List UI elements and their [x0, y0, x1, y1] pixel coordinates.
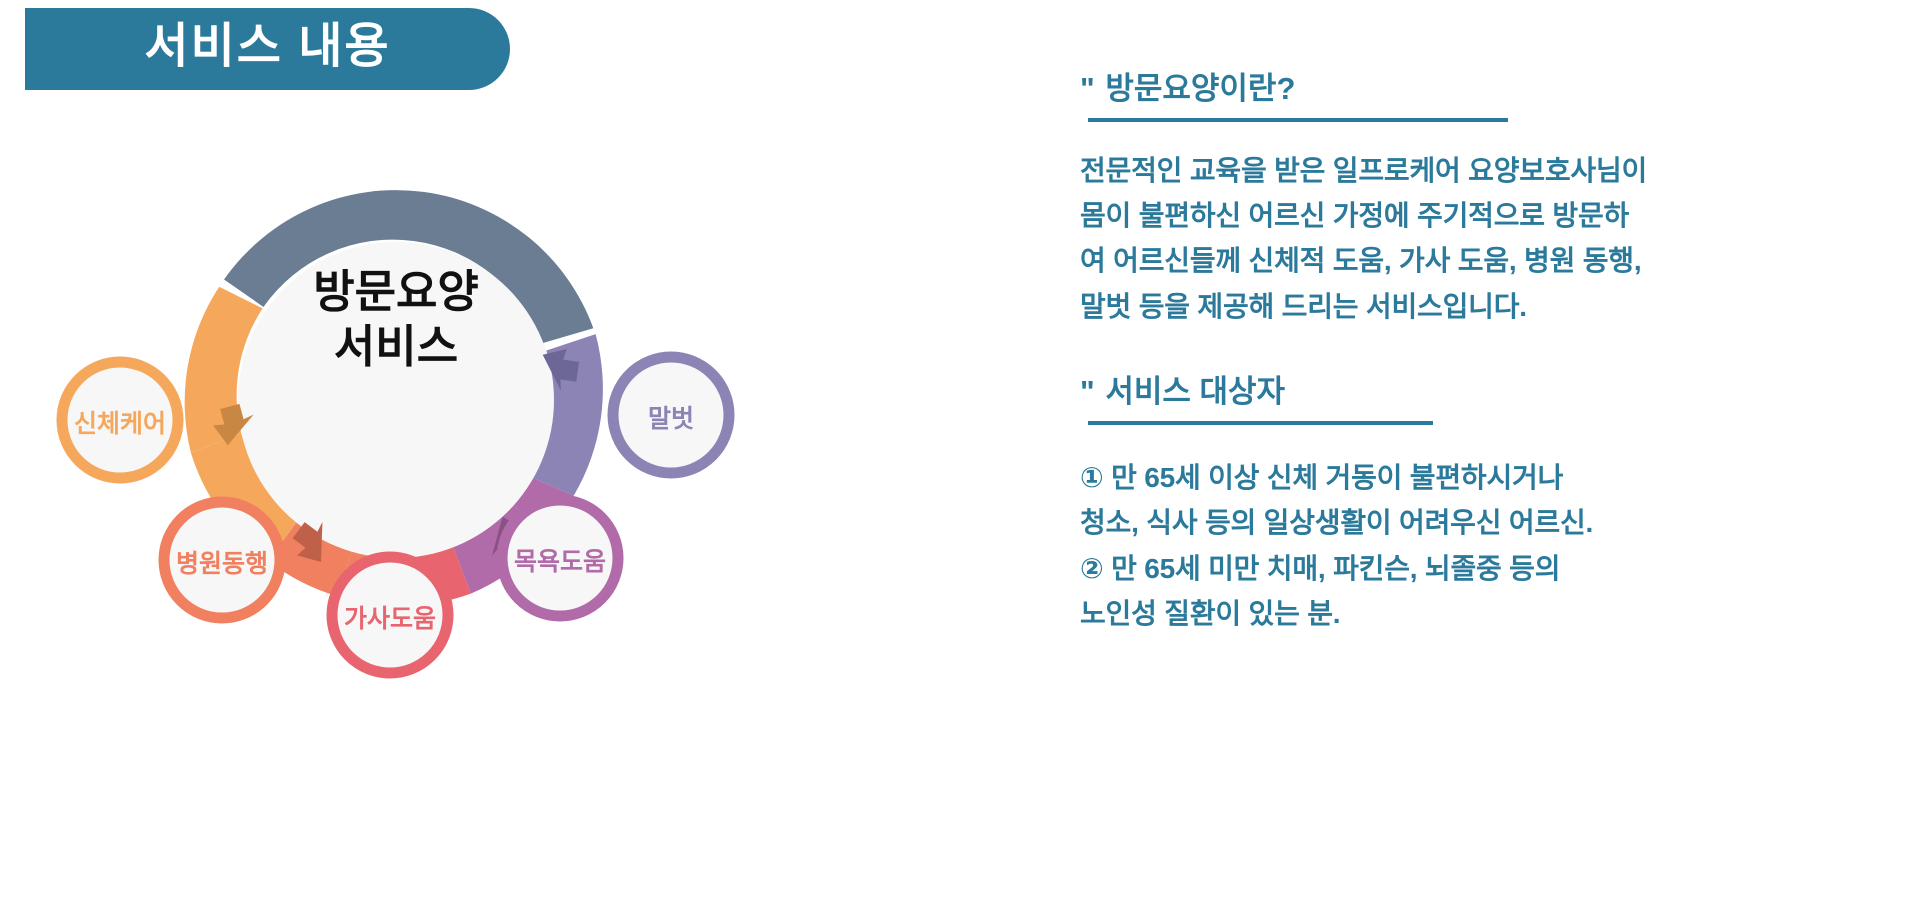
section-2-quote-mark: ": [1080, 374, 1097, 409]
section-2-underline: [1088, 421, 1433, 425]
node-circle-hospital-escort[interactable]: 병원동행: [164, 502, 280, 618]
infographic-page: 서비스 내용: [0, 0, 1920, 913]
node-circle-bath-help[interactable]: 목욕도움: [502, 500, 618, 616]
node-label-housework-help: 가사도움: [344, 605, 436, 633]
section-1-line-3: 여 어르신들께 신체적 도움, 가사 도움, 병원 동행,: [1080, 238, 1870, 283]
node-label-companionship: 말벗: [648, 405, 694, 433]
page-title: 서비스 내용: [144, 23, 390, 75]
section-1-line-4: 말벗 등을 제공해 드리는 서비스입니다.: [1080, 284, 1870, 329]
header-banner: 서비스 내용: [25, 8, 510, 90]
section-2-heading-text: 서비스 대상자: [1105, 374, 1285, 409]
section-1-line-1: 전문적인 교육을 받은 일프로케어 요양보호사님이: [1080, 148, 1870, 193]
node-label-bath-help: 목욕도움: [514, 548, 606, 576]
node-label-hospital-escort: 병원동행: [176, 550, 268, 578]
section-1-heading-text: 방문요양이란?: [1105, 71, 1295, 106]
node-circle-physical-care[interactable]: 신체케어: [62, 362, 178, 478]
section-2-body: ① 만 65세 이상 신체 거동이 불편하시거나 청소, 식사 등의 일상생활이…: [1080, 455, 1870, 636]
node-circle-housework-help[interactable]: 가사도움: [332, 557, 448, 673]
section-2-heading: " 서비스 대상자: [1080, 373, 1870, 412]
section-1-line-2: 몸이 불편하신 어르신 가정에 주기적으로 방문하: [1080, 193, 1870, 238]
section-2-line-4: 노인성 질환이 있는 분.: [1080, 591, 1870, 636]
node-circle-companionship[interactable]: 말벗: [613, 357, 729, 473]
center-label-line1: 방문요양: [313, 266, 479, 317]
node-label-physical-care: 신체케어: [74, 410, 166, 438]
section-2-line-2: 청소, 식사 등의 일상생활이 어려우신 어르신.: [1080, 500, 1870, 545]
center-label-line2: 서비스: [334, 321, 458, 372]
section-service-targets: " 서비스 대상자 ① 만 65세 이상 신체 거동이 불편하시거나 청소, 식…: [1080, 373, 1870, 636]
section-1-body: 전문적인 교육을 받은 일프로케어 요양보호사님이 몸이 불편하신 어르신 가정…: [1080, 148, 1870, 329]
info-text-panel: " 방문요양이란? 전문적인 교육을 받은 일프로케어 요양보호사님이 몸이 불…: [1080, 70, 1870, 870]
section-1-quote-mark: ": [1080, 71, 1097, 106]
section-1-underline: [1088, 118, 1508, 122]
section-what-is-home-care: " 방문요양이란? 전문적인 교육을 받은 일프로케어 요양보호사님이 몸이 불…: [1080, 70, 1870, 329]
section-2-line-3: ② 만 65세 미만 치매, 파킨슨, 뇌졸중 등의: [1080, 546, 1870, 591]
section-1-heading: " 방문요양이란?: [1080, 70, 1870, 109]
service-cycle-diagram: 방문요양 서비스 신체케어 병원동행 가사도움 목욕도움 말벗: [0, 100, 860, 820]
section-2-line-1: ① 만 65세 이상 신체 거동이 불편하시거나: [1080, 455, 1870, 500]
